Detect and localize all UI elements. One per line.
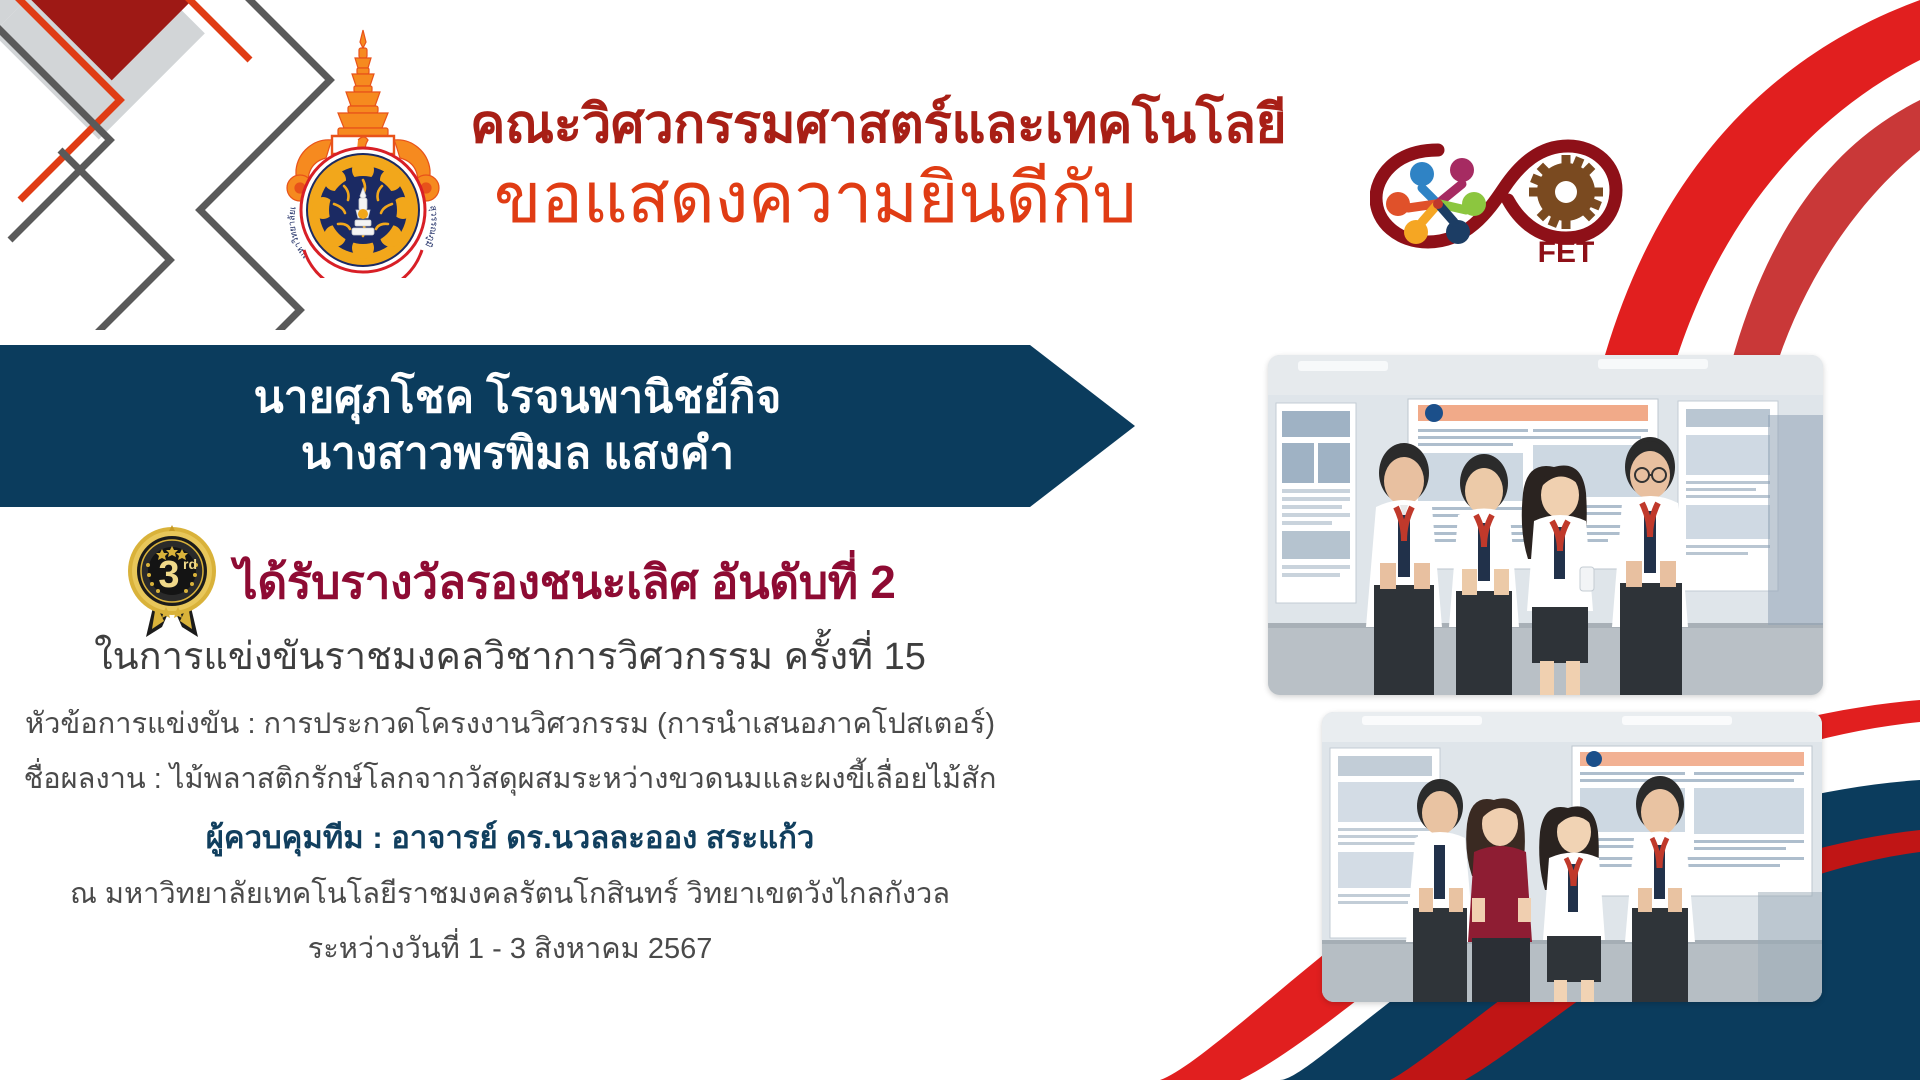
faculty-title: คณะวิศวกรรมศาสตร์และเทคโนโลยี: [470, 95, 1160, 154]
medal-rank-number: 3: [159, 554, 180, 596]
header-text-block: คณะวิศวกรรมศาสตร์และเทคโนโลยี ขอแสดงความ…: [470, 95, 1160, 239]
third-place-medal-icon: 3 rd: [124, 525, 220, 640]
awardee-name-banner: นายศุภโชค โรจนพานิชย์กิจ นางสาวพรพิมล แส…: [0, 345, 1135, 507]
fet-label: FET: [1538, 236, 1595, 269]
work-title: ชื่อผลงาน : ไม้พลาสติกรักษ์โลกจากวัสดุผส…: [0, 755, 1020, 801]
medal-rank-suffix: rd: [183, 556, 197, 572]
award-row: 3 rd ได้รับรางวัลรองชนะเลิศ อันดับที่ 2: [0, 525, 1020, 640]
team-photo-bottom: [1322, 712, 1822, 1002]
competition-topic: หัวข้อการแข่งขัน : การประกวดโครงงานวิศวก…: [0, 700, 1020, 746]
award-title: ได้รับรางวัลรองชนะเลิศ อันดับที่ 2: [234, 546, 895, 619]
rmut-university-seal-icon: มหาวิทยาลัยเทคโนโลยีราชมงคล สุวรรณภูมิ: [258, 28, 468, 278]
congratulation-banner: มหาวิทยาลัยเทคโนโลยีราชมงคล สุวรรณภูมิ ค…: [0, 0, 1920, 1080]
venue-line: ณ มหาวิทยาลัยเทคโนโลยีราชมงคลรัตนโกสินทร…: [0, 870, 1020, 916]
advisor-line: ผู้ควบคุมทีม : อาจารย์ ดร.นวลละออง สระแก…: [0, 812, 1020, 862]
team-photo-top: [1268, 355, 1823, 695]
competition-line: ในการแข่งขันราชมงคลวิชาการวิศวกรรม ครั้ง…: [0, 625, 1020, 686]
date-line: ระหว่างวันที่ 1 - 3 สิงหาคม 2567: [0, 925, 1020, 971]
awardee-name-1: นายศุภโชค โรจนพานิชย์กิจ: [254, 370, 782, 426]
awardee-name-2: นางสาวพรพิมล แสงคำ: [301, 426, 734, 482]
congratulations-title: ขอแสดงความยินดีกับ: [470, 158, 1160, 239]
fet-logo-icon: FET: [1370, 130, 1630, 270]
